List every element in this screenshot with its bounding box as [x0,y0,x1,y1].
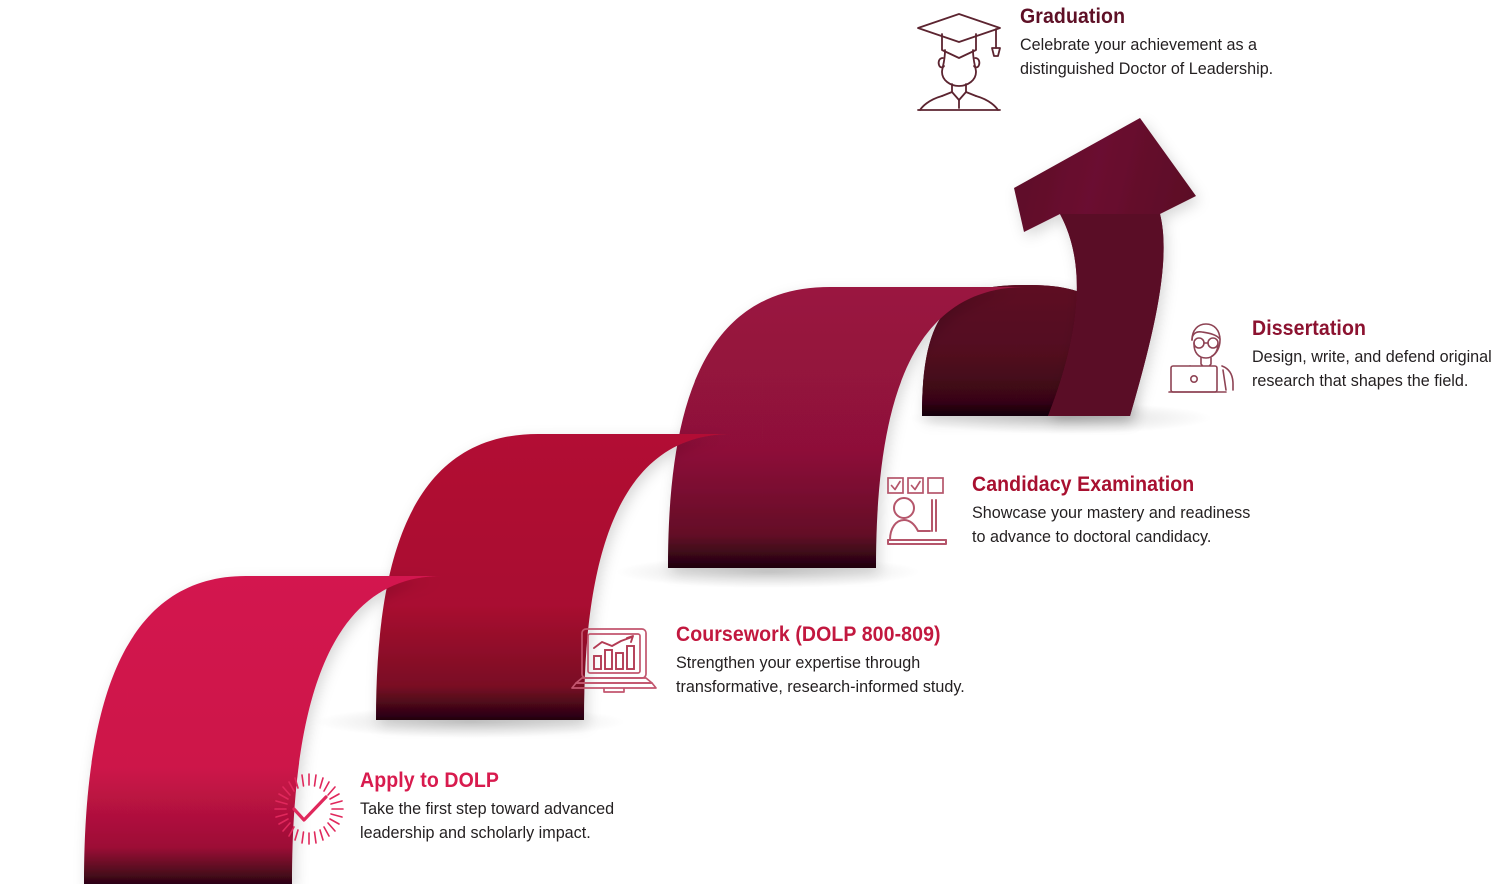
step-title: Apply to DOLP [360,770,609,792]
step-coursework[interactable]: Coursework (DOLP 800-809) Strengthen you… [566,624,980,700]
step-description: Design, write, and defend original resea… [1252,345,1492,393]
laptop-bar-chart-icon [566,624,662,700]
checkmark-burst-icon [272,770,346,848]
step-title: Graduation [1020,6,1268,28]
step-text-block: Graduation Celebrate your achievement as… [1020,6,1287,81]
step-description: Strengthen your expertise through transf… [676,651,965,699]
step-title: Coursework (DOLP 800-809) [676,624,959,646]
graduate-cap-person-icon [912,6,1006,112]
ribbon-path-graphic [0,0,1505,884]
step-dissertation[interactable]: Dissertation Design, write, and defend o… [1168,318,1504,396]
step-title: Dissertation [1252,318,1487,340]
step-apply-to-dolp[interactable]: Apply to DOLP Take the first step toward… [272,770,627,848]
step-graduation[interactable]: Graduation Celebrate your achievement as… [912,6,1287,112]
step-candidacy-examination[interactable]: Candidacy Examination Showcase your mast… [884,474,1265,554]
person-laptop-checklist-icon [884,474,958,554]
step-text-block: Dissertation Design, write, and defend o… [1252,318,1504,393]
step-text-block: Candidacy Examination Showcase your mast… [972,474,1265,549]
step-title: Candidacy Examination [972,474,1244,496]
infographic-canvas: Apply to DOLP Take the first step toward… [0,0,1505,884]
step-description: Showcase your mastery and readiness to a… [972,501,1250,549]
step-text-block: Apply to DOLP Take the first step toward… [360,770,627,845]
step-text-block: Coursework (DOLP 800-809) Strengthen you… [676,624,980,699]
researcher-laptop-icon [1168,318,1238,396]
step-description: Take the first step toward advanced lead… [360,797,614,845]
step-description: Celebrate your achievement as a distingu… [1020,33,1273,81]
